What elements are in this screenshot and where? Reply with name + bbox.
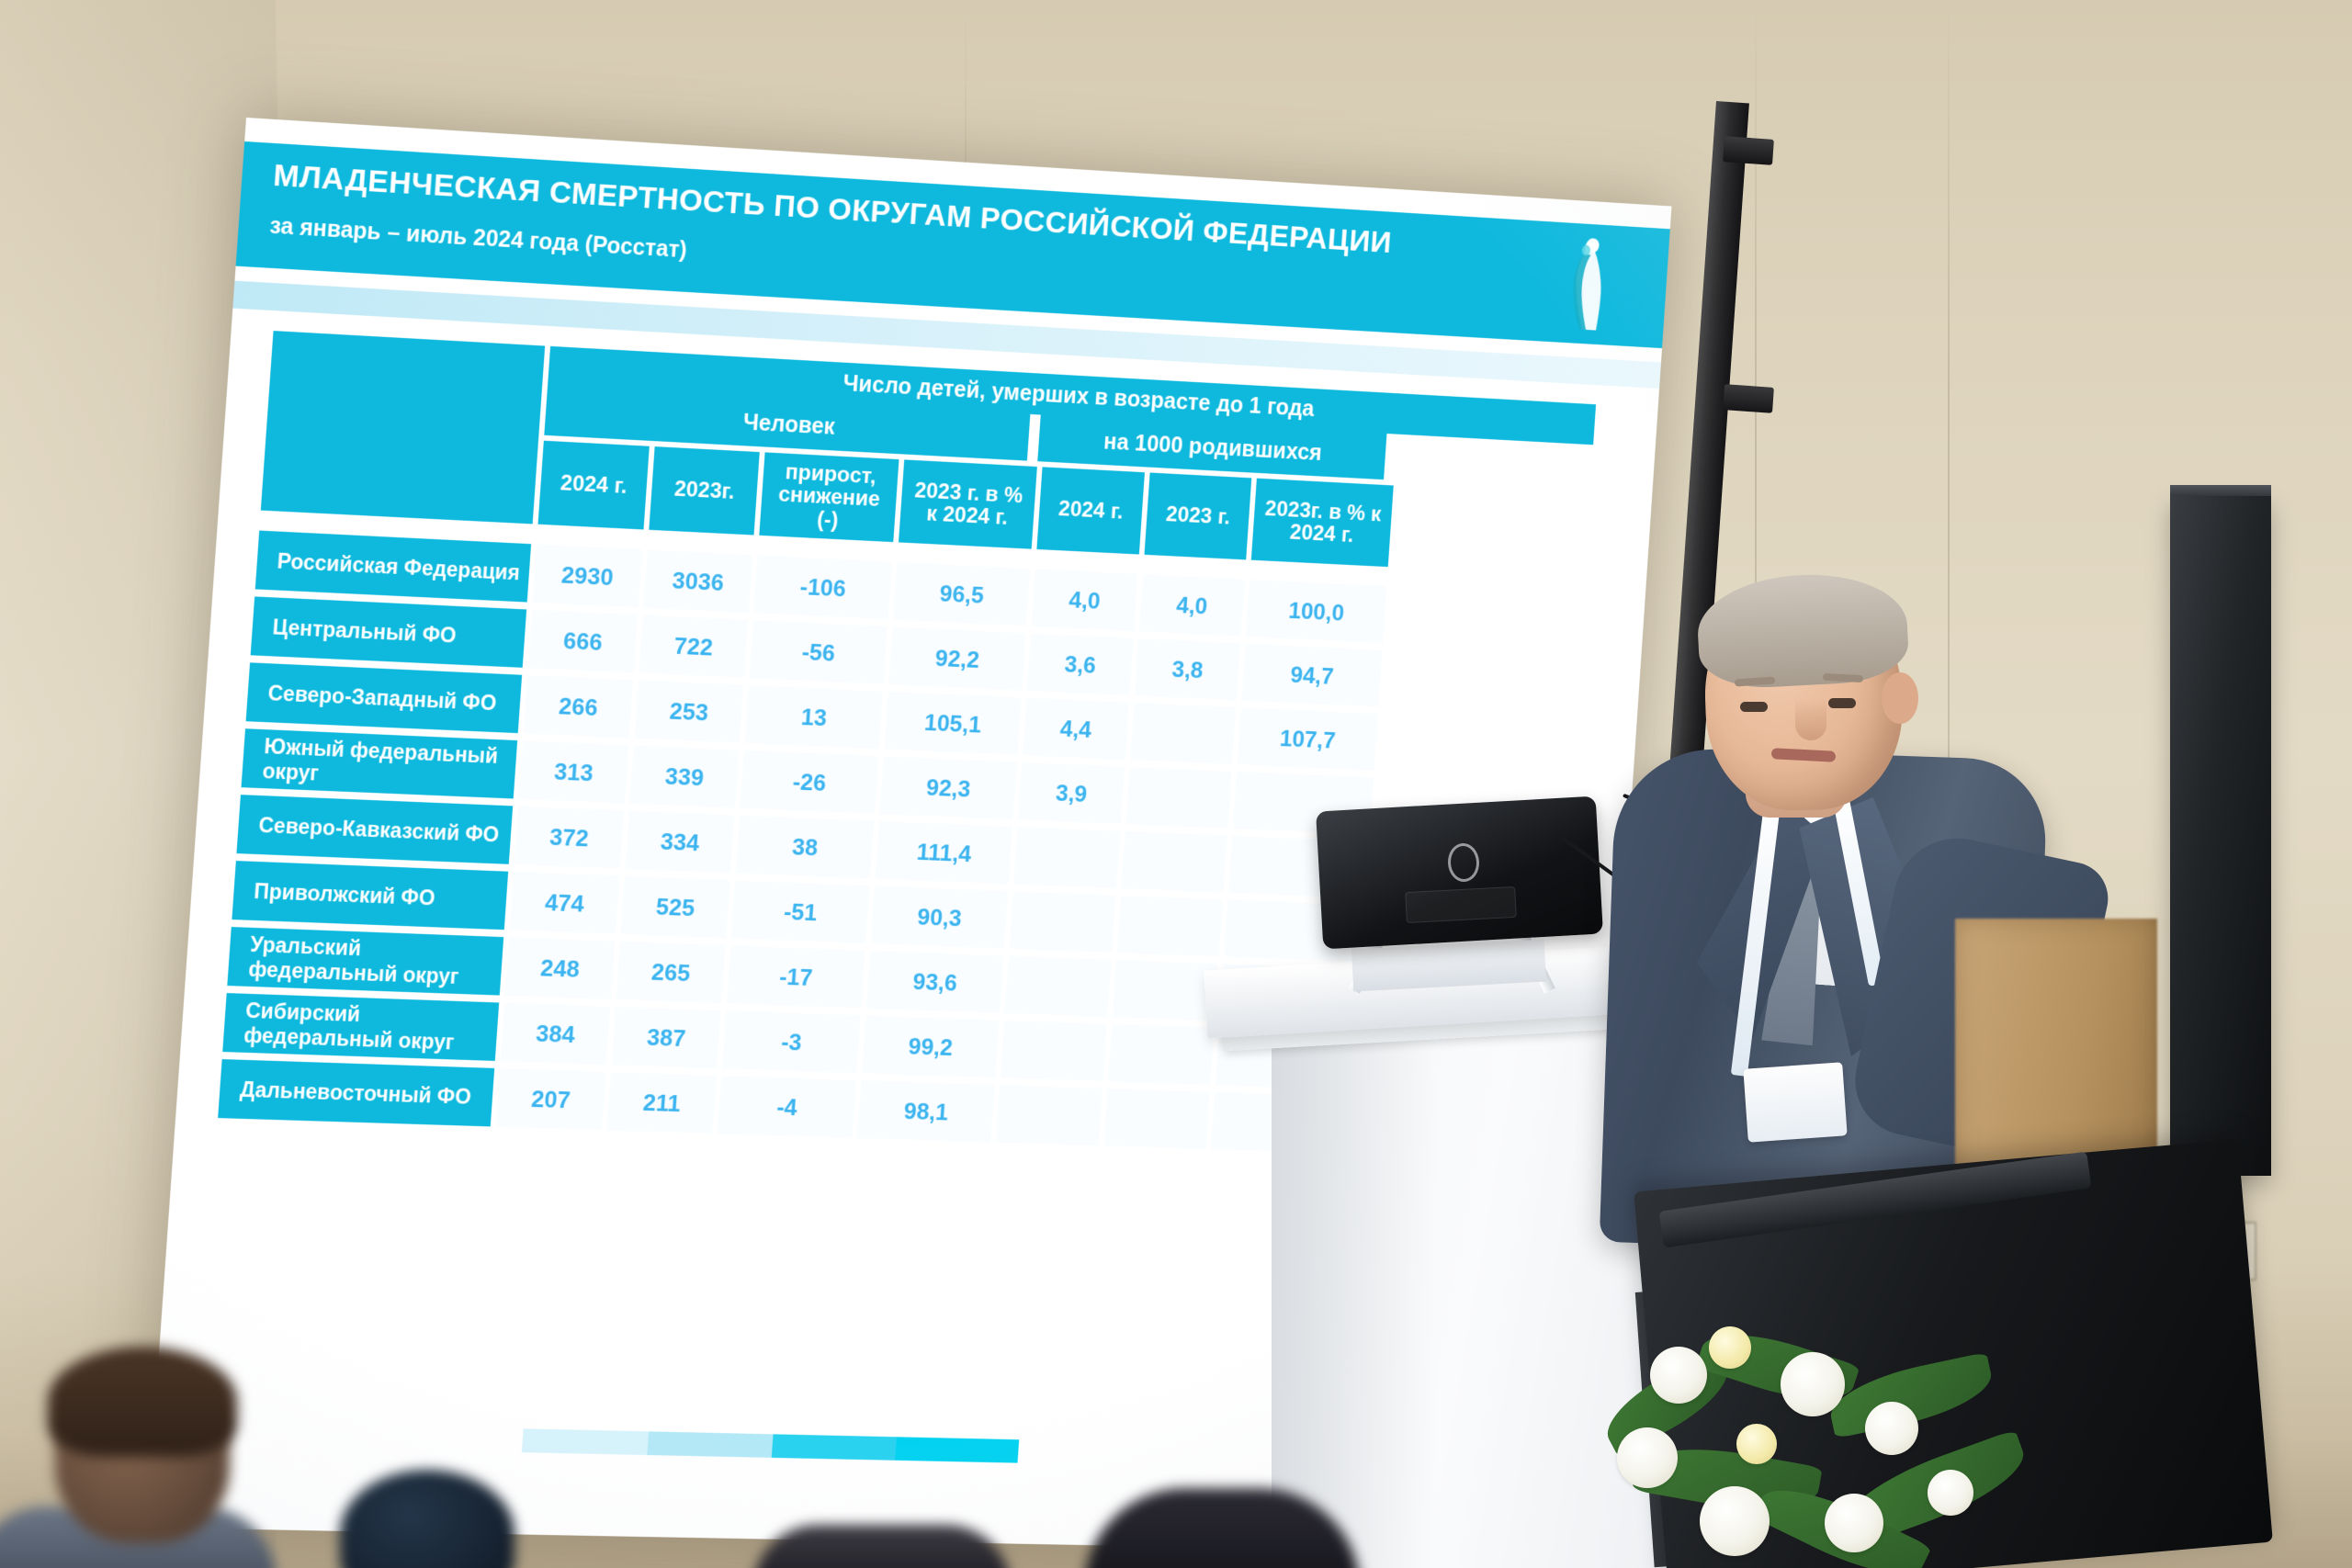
audience-member bbox=[753, 1525, 1011, 1568]
presenter-eye bbox=[1828, 698, 1856, 708]
row-region-label: Северо-Кавказский ФО bbox=[236, 795, 513, 864]
presenter-hair bbox=[1695, 570, 1910, 691]
flower-bloom bbox=[1736, 1424, 1777, 1464]
cell-rate-pct: 107,7 bbox=[1238, 707, 1378, 770]
cell-rate-2023: 4,0 bbox=[1139, 574, 1245, 636]
flower-bloom bbox=[1700, 1486, 1770, 1556]
cell-abs-2024: 2930 bbox=[533, 544, 642, 607]
cell-rate-2024 bbox=[1009, 891, 1115, 953]
presenter-eye bbox=[1740, 702, 1768, 712]
lectern-shadow bbox=[1272, 1020, 1437, 1568]
cell-rate-2023: 3,8 bbox=[1135, 638, 1240, 700]
loudspeaker-tower bbox=[2170, 496, 2271, 1176]
audience-member-hair bbox=[48, 1347, 237, 1457]
cell-abs-2024: 248 bbox=[505, 937, 616, 999]
cell-delta: 13 bbox=[745, 685, 883, 749]
cell-delta: 38 bbox=[736, 816, 875, 879]
flower-bloom bbox=[1617, 1427, 1678, 1488]
cell-pct: 90,3 bbox=[871, 886, 1008, 948]
cell-abs-2024: 384 bbox=[501, 1003, 611, 1065]
cell-rate-pct: 100,0 bbox=[1246, 580, 1386, 643]
col-header-rate-pct: 2023г. в % к 2024 г. bbox=[1251, 479, 1394, 567]
flower-bloom bbox=[1928, 1470, 1973, 1516]
cell-pct: 92,3 bbox=[880, 756, 1017, 819]
footer-color-bar bbox=[522, 1428, 1019, 1462]
cell-rate-2024: 4,4 bbox=[1023, 698, 1129, 760]
row-region-label: Дальневосточный ФО bbox=[218, 1059, 494, 1126]
cell-abs-2023: 722 bbox=[639, 615, 748, 677]
monitor-label-plate bbox=[1405, 886, 1517, 923]
cell-abs-2023: 339 bbox=[630, 746, 740, 808]
row-region-label: Уральский федеральный округ bbox=[227, 927, 503, 996]
cell-abs-2024: 266 bbox=[524, 675, 633, 738]
cell-abs-2024: 207 bbox=[496, 1068, 606, 1130]
cell-delta: -51 bbox=[731, 880, 870, 942]
cell-rate-2023 bbox=[1103, 1089, 1209, 1149]
row-region-label: Северо-Западный ФО bbox=[246, 662, 523, 733]
row-region-label: Российская Федерация bbox=[255, 531, 531, 603]
cell-rate-2023 bbox=[1117, 896, 1223, 956]
col-header-abs-2023: 2023г. bbox=[649, 446, 759, 535]
slide-subtitle: за январь – июль 2024 года (Росстат) bbox=[269, 213, 688, 264]
cell-delta: -106 bbox=[753, 555, 891, 619]
cell-rate-2024: 3,9 bbox=[1018, 762, 1125, 824]
cell-rate-2023 bbox=[1113, 960, 1218, 1021]
cell-rate-2024 bbox=[1001, 1021, 1107, 1081]
col-header-rate-2024: 2024 г. bbox=[1036, 467, 1145, 554]
cell-pct: 99,2 bbox=[862, 1016, 999, 1078]
footer-swatch bbox=[647, 1431, 773, 1458]
cell-pct: 111,4 bbox=[876, 821, 1012, 884]
presenter-ear bbox=[1882, 672, 1918, 724]
cell-delta: -17 bbox=[727, 945, 865, 1008]
cell-delta: -26 bbox=[741, 750, 878, 814]
cell-pct: 92,2 bbox=[888, 626, 1025, 690]
cell-abs-2024: 474 bbox=[510, 872, 620, 934]
row-region-label: Южный федеральный округ bbox=[242, 728, 518, 798]
row-region-label: Сибирский федеральный округ bbox=[222, 993, 499, 1061]
cell-rate-pct: 94,7 bbox=[1241, 644, 1382, 707]
cell-abs-2023: 253 bbox=[635, 681, 744, 743]
cell-pct: 98,1 bbox=[857, 1080, 994, 1142]
cell-abs-2023: 211 bbox=[607, 1072, 717, 1134]
cell-rate-2024 bbox=[996, 1085, 1102, 1145]
row-region-label: Приволжский ФО bbox=[232, 861, 508, 930]
flower-bloom bbox=[1650, 1347, 1707, 1404]
col-header-rate-2023: 2023 г. bbox=[1144, 473, 1251, 560]
col-header-delta: прирост, снижение (-) bbox=[759, 452, 899, 542]
cell-rate-2024: 3,6 bbox=[1027, 634, 1134, 695]
flower-arrangement bbox=[1562, 1314, 2076, 1568]
col-header-pct: 2023 г. в % к 2024 г. bbox=[899, 459, 1037, 548]
footer-swatch bbox=[522, 1428, 649, 1455]
cell-pct: 93,6 bbox=[866, 951, 1003, 1013]
cell-abs-2024: 313 bbox=[519, 740, 629, 803]
footer-swatch bbox=[772, 1434, 897, 1460]
row-region-label: Центральный ФО bbox=[251, 596, 526, 667]
cell-abs-2023: 265 bbox=[616, 942, 726, 1003]
cell-abs-2023: 387 bbox=[612, 1007, 721, 1068]
cell-rate-2023 bbox=[1108, 1024, 1214, 1085]
col-header-abs-2024: 2024 г. bbox=[538, 441, 650, 530]
cell-delta: -3 bbox=[722, 1010, 861, 1073]
cell-abs-2023: 3036 bbox=[643, 549, 752, 613]
footer-swatch bbox=[895, 1437, 1019, 1462]
cell-abs-2024: 372 bbox=[514, 807, 625, 869]
presenter-badge bbox=[1743, 1062, 1847, 1142]
cell-abs-2023: 334 bbox=[626, 811, 735, 874]
presenter-nose bbox=[1795, 698, 1826, 740]
cell-abs-2024: 666 bbox=[528, 610, 638, 673]
flower-bloom bbox=[1825, 1494, 1883, 1552]
cell-delta: -4 bbox=[718, 1076, 856, 1138]
cell-pct: 105,1 bbox=[884, 692, 1021, 755]
flower-bloom bbox=[1781, 1352, 1845, 1416]
cell-rate-2023 bbox=[1130, 703, 1236, 764]
cell-delta: -56 bbox=[750, 620, 888, 684]
cell-rate-2023 bbox=[1122, 831, 1227, 893]
cell-rate-2024: 4,0 bbox=[1032, 569, 1138, 631]
cell-rate-2023 bbox=[1125, 767, 1231, 829]
mother-and-child-emblem-icon bbox=[1555, 230, 1623, 339]
cell-rate-2024 bbox=[1013, 827, 1120, 888]
cell-rate-2024 bbox=[1005, 956, 1112, 1017]
flower-bloom bbox=[1865, 1402, 1918, 1455]
cell-abs-2023: 525 bbox=[621, 876, 730, 939]
flower-bloom bbox=[1709, 1326, 1751, 1369]
table-corner-cell bbox=[261, 331, 545, 524]
cell-pct: 96,5 bbox=[893, 562, 1030, 626]
